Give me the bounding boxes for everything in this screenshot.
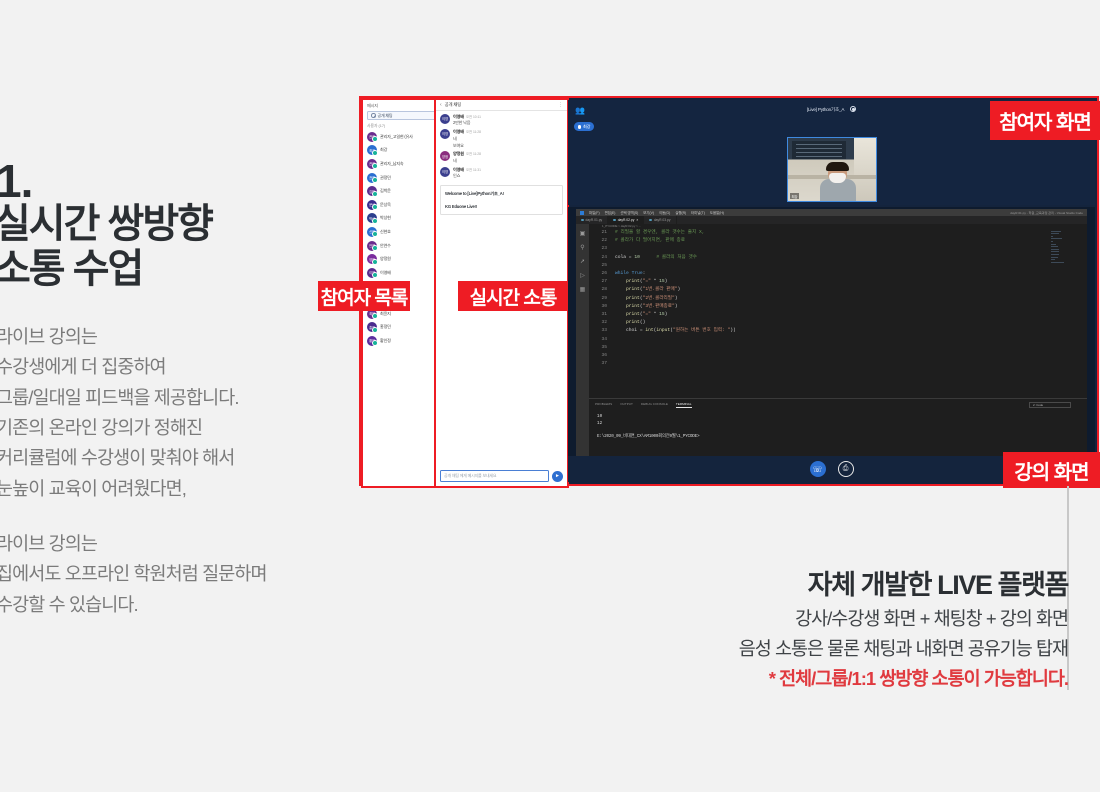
platform-feature-note: * 전체/그룹/1:1 쌍방향 소통이 가능합니다. — [448, 665, 1068, 692]
participant-name: 박상현 — [380, 215, 391, 221]
code-line: 34 — [591, 336, 1045, 344]
avatar: 최강 — [367, 145, 377, 155]
chat-message-author: 이영배 — [453, 167, 464, 173]
chat-title: 공개 채팅 — [445, 102, 461, 108]
editor-tab-3-label: dayR.03.py — [654, 218, 671, 222]
code-editor[interactable]: 21# 리필을 할 경우엔, 콜라 갯수는 줄지 X,22# 콜라가 다 떨어지… — [589, 229, 1045, 398]
lecture-screen-share: 파일(F) 편집(E) 선택 영역(S) 보기(V) 이동(G) 실행(R) 터… — [568, 207, 1095, 482]
participant-row[interactable]: 황인황인정 — [363, 334, 443, 348]
participant-row[interactable]: 안연안연수 — [363, 239, 443, 253]
participant-name: 권정민 — [380, 175, 391, 181]
avatar: 이영 — [367, 268, 377, 278]
kebab-menu-icon[interactable]: ⋮ — [558, 103, 563, 108]
terminal-panel-tabs: PROBLEMS OUTPUT DEBUG CONSOLE TERMINAL 2… — [589, 399, 1087, 408]
vscode-window-title: dayR.01.py - 학원_교육과정 관리 - Visual Studio … — [1010, 210, 1083, 215]
chat-message-meta: 양정원오전 11:28 — [453, 151, 481, 157]
chat-message-text: 보여요 — [453, 143, 481, 149]
code-line: 25 — [591, 262, 1045, 270]
participant-name: 신현호 — [380, 229, 391, 235]
callout-realtime-chat: 실시간 소통 — [458, 281, 568, 311]
menu-item-help[interactable]: 도움말(H) — [710, 210, 724, 215]
participant-name: 최강 — [380, 147, 387, 153]
panel-tab-debug-console[interactable]: DEBUG CONSOLE — [641, 402, 668, 408]
chat-message-author: 양정원 — [453, 151, 464, 157]
menu-item-terminal[interactable]: 터미널(T) — [691, 210, 705, 215]
search-icon[interactable]: ⚲ — [580, 244, 584, 251]
participants-search-label: 공개 채팅 — [378, 113, 393, 119]
code-line: 36 — [591, 352, 1045, 360]
chat-message-author: 이영배 — [453, 114, 464, 120]
headline-line-2: 소통 수업 — [0, 247, 360, 292]
participants-count: 사용자 (17) — [363, 120, 443, 130]
participant-row[interactable]: 최강최강 — [363, 144, 443, 158]
callout-user-screen: 참여자 화면 — [990, 101, 1100, 140]
left-copy-block: 1. 실시간 쌍방향 소통 수업 라이브 강의는 수강생에게 더 집중하여 그룹… — [0, 160, 360, 620]
avatar: 관리 — [367, 159, 377, 169]
chat-message-time: 오전 11:31 — [466, 167, 481, 172]
platform-feature-2: 음성 소통은 물론 채팅과 내화면 공유기능 탑재 — [448, 635, 1068, 662]
avatar: 이영 — [440, 167, 450, 177]
participants-panel-title: 메시지 — [363, 100, 443, 111]
participant-row[interactable]: 양정양정원 — [363, 252, 443, 266]
code-line: 37 — [591, 360, 1045, 368]
chat-message-meta: 이영배오전 10:11 — [453, 114, 481, 120]
terminal-output-line-1: 10 — [597, 413, 1087, 420]
avatar: 김박 — [367, 186, 377, 196]
close-icon[interactable]: × — [636, 218, 638, 222]
participant-row[interactable]: 홍정홍정민 — [363, 320, 443, 334]
chat-message-time: 오전 11:28 — [466, 151, 481, 156]
terminal-selector[interactable]: 2: Code — [1029, 402, 1071, 408]
platform-feature-1: 강사/수강생 화면 + 채팅창 + 강의 화면 — [448, 605, 1068, 632]
system-line-2: KG Eduone Live!! — [445, 204, 558, 209]
participant-row[interactable]: 신현신현호 — [363, 225, 443, 239]
headphone-icon[interactable]: ☏ — [810, 461, 826, 477]
terminal-output[interactable]: 10 12 E:\2020_09_비대면_CX\AM1000회의전9월\1_PY… — [589, 408, 1087, 440]
active-speaker-name: 최강 — [583, 124, 590, 130]
python-file-icon — [649, 219, 652, 222]
chat-message-text: 네 — [453, 136, 481, 142]
code-line: 22# 콜라가 다 떨어지면, 판매 종료 — [591, 237, 1045, 245]
avatar: 양정 — [367, 254, 377, 264]
participant-name: 관리자_고일현 (유사 — [380, 134, 413, 140]
code-line: 26while True: — [591, 270, 1045, 278]
chat-message-time: 오전 11:28 — [466, 129, 481, 134]
participant-name: 관리자_남지숙 — [380, 161, 403, 167]
section-number: 1. — [0, 160, 360, 202]
system-line-1: Welcome to [Live]Python기초_A! — [445, 191, 558, 197]
vscode-menubar: 파일(F) 편집(E) 선택 영역(S) 보기(V) 이동(G) 실행(R) 터… — [576, 209, 1087, 216]
chat-message: 이영이영배오전 11:31인쇼 — [436, 164, 567, 179]
send-icon[interactable]: ► — [552, 471, 563, 482]
participant-name: 홍정민 — [380, 324, 391, 330]
menu-item-edit[interactable]: 편집(E) — [605, 210, 616, 215]
avatar: 양정 — [440, 151, 450, 161]
body-paragraph-1: 라이브 강의는 수강생에게 더 집중하여 그룹/일대일 피드백을 제공합니다. … — [0, 322, 360, 504]
chat-message-author: 이영배 — [453, 129, 464, 135]
participant-name: 안연수 — [380, 243, 391, 249]
code-line: 31 print("=" * 15) — [591, 311, 1045, 319]
tile-whiteboard — [792, 141, 846, 159]
record-icon[interactable] — [850, 106, 856, 112]
participant-name: 황인정 — [380, 338, 391, 344]
menu-item-selection[interactable]: 선택 영역(S) — [620, 210, 638, 215]
avatar: 신현 — [367, 227, 377, 237]
code-line: 33 choi = int(input("원하는 버튼 번호 입력: ")) — [591, 327, 1045, 335]
chat-message-body: 이영배오전 11:31인쇼 — [453, 167, 481, 180]
chat-input-row: 공개 채팅 에게 메시지를 보내세요 ► — [436, 470, 567, 482]
screen-share-icon[interactable]: ⎙ — [838, 461, 854, 477]
chat-message-meta: 이영배오전 11:28 — [453, 129, 481, 135]
tile-name-label: 최강 — [790, 193, 800, 199]
source-control-icon[interactable]: ➚ — [580, 258, 585, 265]
chat-message-body: 양정원오전 11:28네 — [453, 151, 481, 164]
search-icon — [371, 113, 376, 118]
participant-row[interactable]: 김박김박운 — [363, 184, 443, 198]
chat-message-meta: 이영배오전 11:31 — [453, 167, 481, 173]
avatar: 문상 — [367, 200, 377, 210]
editor-tab-1-label: dayR.01.py — [586, 218, 603, 222]
participant-name: 양정원 — [380, 256, 391, 262]
python-file-icon — [581, 219, 584, 222]
panel-tab-output[interactable]: OUTPUT — [620, 402, 633, 408]
participant-name: 이영배 — [380, 270, 391, 276]
panel-tab-terminal[interactable]: TERMINAL — [676, 402, 692, 408]
editor-tab-1[interactable]: dayR.01.py — [576, 216, 608, 224]
panel-tab-problems[interactable]: PROBLEMS — [595, 402, 612, 408]
code-line: 21# 리필을 할 경우엔, 콜라 갯수는 줄지 X, — [591, 229, 1045, 237]
page-title: 실시간 쌍방향 소통 수업 — [0, 202, 360, 292]
code-line: 35 — [591, 344, 1045, 352]
callout-lecture-screen: 강의 화면 — [1003, 452, 1100, 488]
chat-message: 양정양정원오전 11:28네 — [436, 149, 567, 164]
participant-row[interactable]: 문상문상욱 — [363, 198, 443, 212]
editor-tab-3[interactable]: dayR.03.py — [644, 216, 676, 224]
code-line: 28 print("1번.콜라 판매") — [591, 286, 1045, 294]
explorer-icon[interactable]: ▣ — [580, 230, 586, 237]
participant-row[interactable]: 박상박상현 — [363, 212, 443, 226]
chevron-left-icon[interactable]: ‹ — [440, 102, 442, 108]
participant-row[interactable]: 권정권정민 — [363, 171, 443, 185]
video-tile[interactable]: 최강 — [787, 137, 877, 202]
code-line: 23 — [591, 245, 1045, 253]
chat-input-placeholder: 공개 채팅 에게 메시지를 보내세요 — [444, 473, 496, 479]
menu-item-run[interactable]: 실행(R) — [675, 210, 686, 215]
tile-wall — [854, 138, 876, 201]
chat-header: ‹ 공개 채팅 ⋮ — [436, 100, 567, 111]
active-speaker-badge: 최강 — [574, 122, 594, 131]
avatar: 안연 — [367, 241, 377, 251]
avatar: 권정 — [367, 173, 377, 183]
body-paragraph-2: 라이브 강의는 집에서도 오프라인 학원처럼 질문하며 수강할 수 있습니다. — [0, 529, 360, 620]
avatar: 이영 — [440, 114, 450, 124]
participant-name: 문상욱 — [380, 202, 391, 208]
avatar: 관리 — [367, 132, 377, 142]
chat-message-text: 인쇼 — [453, 173, 481, 179]
run-debug-icon[interactable]: ▷ — [580, 272, 585, 279]
chat-system-box: Welcome to [Live]Python기초_A! KG Eduone L… — [440, 185, 563, 215]
chat-message-text: 2만한 낙음 — [453, 120, 481, 126]
editor-tab-bar: dayR.01.py dayR.02.py × dayR.03.py — [576, 216, 1087, 224]
avatar: 황인 — [367, 336, 377, 346]
menu-item-view[interactable]: 보기(V) — [643, 210, 654, 215]
code-line: 29 print("2번.콜라리필") — [591, 295, 1045, 303]
participant-name: 김박운 — [380, 188, 391, 194]
participant-name: 최윤지 — [380, 311, 391, 317]
vscode-logo-icon — [580, 211, 584, 215]
participant-row[interactable]: 관리관리자_남지숙 — [363, 157, 443, 171]
terminal-prompt: E:\2020_09_비대면_CX\AM1000회의전9월\1_PYCODE> — [597, 433, 1087, 440]
callout-participants-list: 참여자 목록 — [318, 281, 410, 311]
code-line: 30 print("3번.판매종료") — [591, 303, 1045, 311]
chat-message-body: 이영배오전 10:112만한 낙음 — [453, 114, 481, 127]
menu-item-go[interactable]: 이동(G) — [659, 210, 670, 215]
chat-message: 이영이영배오전 10:112만한 낙음 — [436, 111, 567, 126]
editor-tab-2[interactable]: dayR.02.py × — [608, 216, 644, 224]
extensions-icon[interactable]: ▦ — [580, 286, 586, 293]
activity-bar: ▣ ⚲ ➚ ▷ ▦ — [576, 224, 589, 482]
headline-line-1: 실시간 쌍방향 — [0, 202, 360, 247]
avatar: 이영 — [440, 129, 450, 139]
minimap[interactable] — [1047, 229, 1085, 398]
participants-search-input[interactable]: 공개 채팅 — [367, 111, 439, 120]
mic-icon — [578, 125, 581, 129]
avatar: 홍정 — [367, 322, 377, 332]
session-title: [Live] Python기초_A — [807, 107, 844, 112]
chat-message-time: 오전 10:11 — [466, 114, 481, 119]
python-file-icon — [613, 219, 616, 222]
participant-row[interactable]: 관리관리자_고일현 (유사 — [363, 130, 443, 144]
chat-message-list: 이영이영배오전 10:112만한 낙음이영이영배오전 11:28네보여요양정양정… — [436, 111, 567, 179]
tile-person — [820, 163, 856, 201]
participants-list: 관리관리자_고일현 (유사최강최강관리관리자_남지숙권정권정민김박김박운문상문상… — [363, 130, 443, 348]
terminal-output-line-2: 12 — [597, 420, 1087, 427]
code-line: 27 print("=" * 15) — [591, 278, 1045, 286]
chat-message: 이영이영배오전 11:28네보여요 — [436, 126, 567, 148]
platform-heading: 자체 개발한 LIVE 플랫폼 — [448, 563, 1068, 602]
vscode-window: 파일(F) 편집(E) 선택 영역(S) 보기(V) 이동(G) 실행(R) 터… — [576, 209, 1087, 482]
right-copy-block: 자체 개발한 LIVE 플랫폼 강사/수강생 화면 + 채팅창 + 강의 화면 … — [448, 563, 1068, 692]
chat-input[interactable]: 공개 채팅 에게 메시지를 보내세요 — [440, 470, 549, 482]
menu-item-file[interactable]: 파일(F) — [589, 210, 600, 215]
code-line: 32 print() — [591, 319, 1045, 327]
chat-message-body: 이영배오전 11:28네보여요 — [453, 129, 481, 149]
editor-tab-2-label: dayR.02.py — [618, 218, 635, 222]
chat-message-text: 네 — [453, 158, 481, 164]
participant-row[interactable]: 이영이영배 — [363, 266, 443, 280]
avatar: 박상 — [367, 213, 377, 223]
code-line: 24cola = 10 # 콜라의 처음 갯수 — [591, 254, 1045, 262]
